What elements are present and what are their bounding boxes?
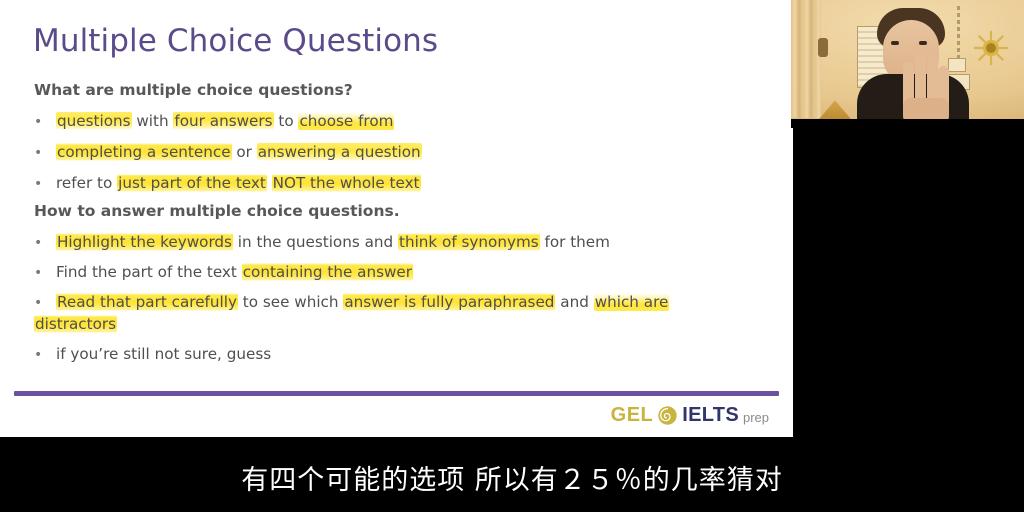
bullet-dot: • bbox=[34, 143, 56, 164]
webcam-letterbox bbox=[791, 119, 1024, 128]
list-item-text: refer to just part of the text NOT the w… bbox=[56, 174, 421, 192]
list-item-text: Read that part carefully to see which an… bbox=[34, 293, 669, 333]
plain-text: and bbox=[555, 293, 593, 311]
bullet-dot: • bbox=[34, 174, 56, 195]
presenter-eye bbox=[919, 41, 927, 45]
bullet-dot: • bbox=[34, 233, 56, 254]
highlighted-text: questions bbox=[56, 112, 132, 130]
section-heading-how: How to answer multiple choice questions. bbox=[34, 202, 400, 220]
list-item: •Highlight the keywords in the questions… bbox=[34, 232, 610, 254]
webcam-presenter bbox=[839, 8, 981, 128]
highlighted-text: distractors bbox=[34, 315, 117, 333]
plain-text bbox=[267, 174, 272, 192]
list-item: •completing a sentence or answering a qu… bbox=[34, 142, 422, 164]
highlighted-text: completing a sentence bbox=[56, 143, 232, 161]
presenter-webcam bbox=[791, 0, 1024, 128]
section-heading-what: What are multiple choice questions? bbox=[34, 81, 353, 99]
list-item: •refer to just part of the text NOT the … bbox=[34, 173, 421, 195]
highlighted-text: four answers bbox=[173, 112, 273, 130]
logo-ielts-text: IELTS bbox=[682, 404, 739, 427]
spiral-rose-icon bbox=[657, 405, 678, 426]
plain-text: to see which bbox=[238, 293, 343, 311]
list-item: •questions with four answers to choose f… bbox=[34, 111, 394, 133]
presentation-slide: Multiple Choice Questions What are multi… bbox=[0, 0, 793, 437]
highlighted-text: think of synonyms bbox=[398, 233, 540, 251]
logo-gel-text: GEL bbox=[611, 404, 654, 427]
brand-logo: GEL IELTS prep bbox=[611, 404, 769, 427]
bullet-dot: • bbox=[34, 345, 56, 366]
plain-text: for them bbox=[540, 233, 610, 251]
plain-text: if you’re still not sure, guess bbox=[56, 345, 271, 363]
highlighted-text: answer is fully paraphrased bbox=[343, 293, 555, 311]
highlighted-text: choose from bbox=[298, 112, 394, 130]
list-item: •Find the part of the text containing th… bbox=[34, 262, 413, 284]
plain-text: in the questions and bbox=[233, 233, 398, 251]
highlighted-text: Read that part carefully bbox=[56, 293, 238, 311]
presenter-hand-four-fingers bbox=[901, 50, 947, 122]
plain-text: Find the part of the text bbox=[56, 263, 242, 281]
plain-text: refer to bbox=[56, 174, 117, 192]
highlighted-text: Highlight the keywords bbox=[56, 233, 233, 251]
webcam-curtain bbox=[791, 0, 821, 118]
list-item: •Read that part carefully to see which a… bbox=[34, 292, 734, 335]
logo-prep-text: prep bbox=[743, 410, 769, 425]
webcam-wall-hanging bbox=[818, 38, 828, 57]
highlighted-text: NOT the whole text bbox=[272, 174, 421, 192]
highlighted-text: answering a question bbox=[257, 143, 422, 161]
list-item-text: Highlight the keywords in the questions … bbox=[56, 233, 610, 251]
footer-divider bbox=[14, 391, 779, 396]
list-item-text: questions with four answers to choose fr… bbox=[56, 112, 394, 130]
presenter-eye bbox=[891, 41, 899, 45]
plain-text: with bbox=[132, 112, 174, 130]
list-item-text: Find the part of the text containing the… bbox=[56, 263, 413, 281]
page-title: Multiple Choice Questions bbox=[33, 23, 438, 59]
bullet-dot: • bbox=[34, 263, 56, 284]
subtitle-caption: 有四个可能的选项 所以有２５％的几率猜对 bbox=[0, 458, 1024, 497]
video-frame: Multiple Choice Questions What are multi… bbox=[0, 0, 1024, 512]
plain-text: or bbox=[232, 143, 257, 161]
list-item-text: completing a sentence or answering a que… bbox=[56, 143, 422, 161]
highlighted-text: just part of the text bbox=[117, 174, 267, 192]
bullet-dot: • bbox=[34, 112, 56, 133]
highlighted-text: which are bbox=[594, 293, 670, 311]
bullet-dot: • bbox=[34, 293, 56, 314]
list-item-text: if you’re still not sure, guess bbox=[56, 345, 271, 363]
highlighted-text: containing the answer bbox=[242, 263, 413, 281]
plain-text: to bbox=[274, 112, 299, 130]
list-item: •if you’re still not sure, guess bbox=[34, 344, 271, 366]
